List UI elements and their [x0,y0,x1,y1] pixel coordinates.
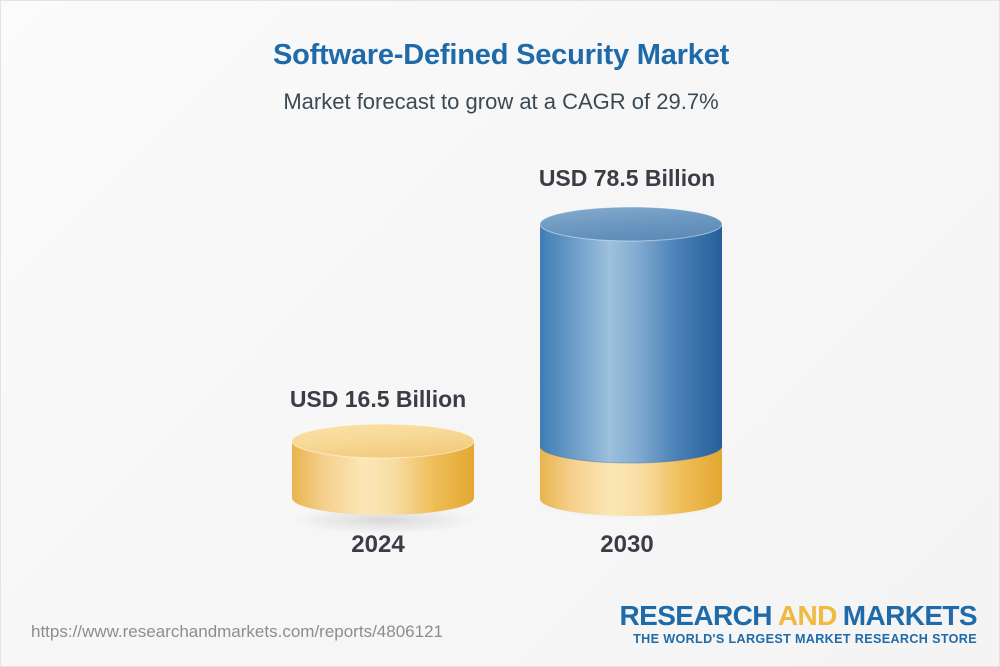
logo-wordmark: RESEARCHANDMARKETS [620,601,977,630]
value-label-2030: USD 78.5 Billion [531,165,723,192]
logo-tagline: THE WORLD'S LARGEST MARKET RESEARCH STOR… [620,632,977,646]
logo-word-markets: MARKETS [843,600,977,631]
cylinder-body-2030 [540,224,722,463]
chart-canvas: Software-Defined Security Market Market … [0,0,1000,667]
logo-word-research: RESEARCH [620,600,772,631]
bar-cylinder-2030 [531,201,731,521]
bar-cylinder-2024 [283,418,483,548]
category-label-2024: 2024 [283,531,473,559]
chart-subtitle: Market forecast to grow at a CAGR of 29.… [1,89,1000,115]
logo-word-and: AND [778,600,837,631]
chart-title: Software-Defined Security Market [1,39,1000,72]
value-label-2024: USD 16.5 Billion [283,386,473,413]
research-and-markets-logo: RESEARCHANDMARKETS THE WORLD'S LARGEST M… [620,601,977,646]
category-label-2030: 2030 [531,531,723,559]
report-url[interactable]: https://www.researchandmarkets.com/repor… [31,622,443,642]
